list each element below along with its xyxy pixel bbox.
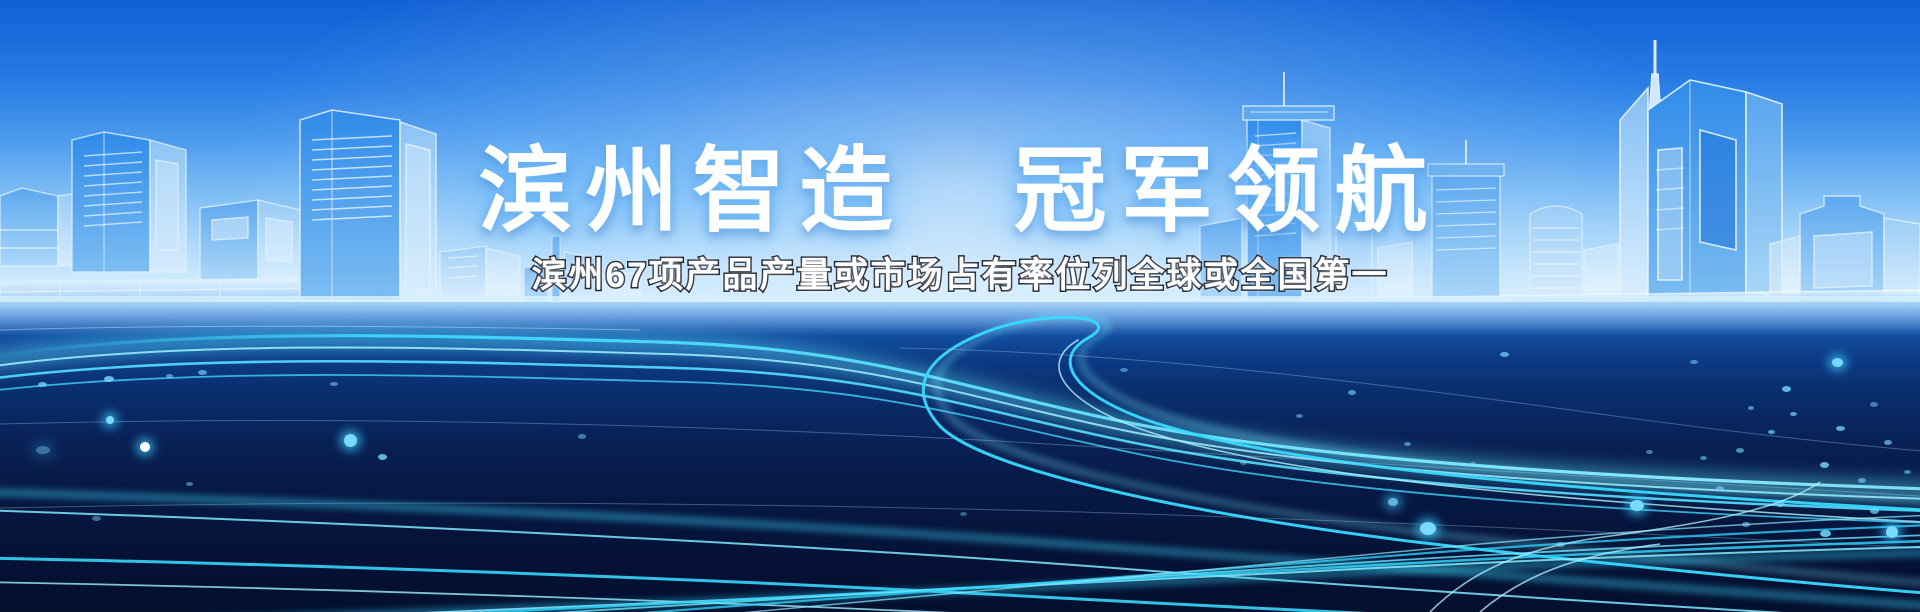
text-layer: 滨州智造 冠军领航 滨州67项产品产量或市场占有率位列全球或全国第一 [0,0,1920,612]
banner-root: 滨州智造 冠军领航 滨州67项产品产量或市场占有率位列全球或全国第一 [0,0,1920,612]
page-subtitle: 滨州67项产品产量或市场占有率位列全球或全国第一 [0,258,1920,293]
page-title: 滨州智造 冠军领航 [0,145,1920,238]
